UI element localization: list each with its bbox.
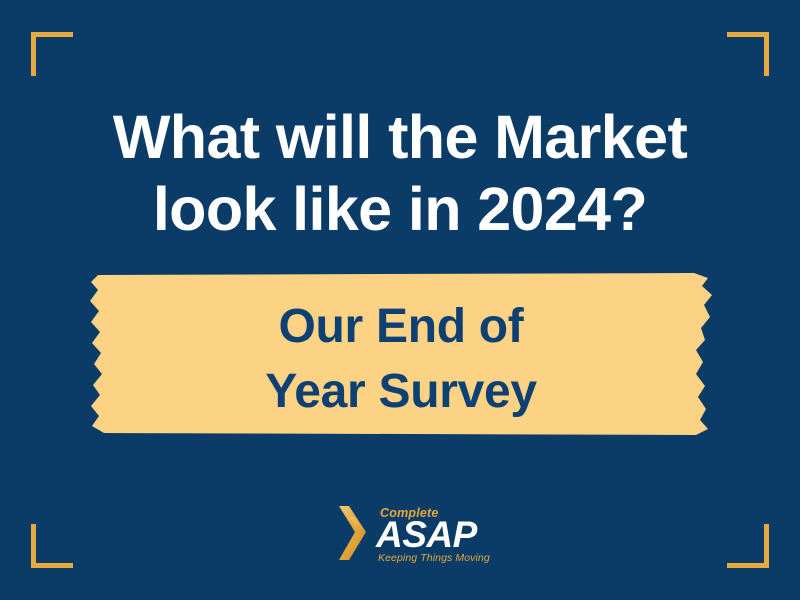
bracket-arm-horizontal	[31, 32, 73, 37]
logo-tagline: Keeping Things Moving	[378, 552, 490, 564]
corner-bracket-bottom-left	[31, 524, 73, 568]
headline-line-1: What will the Market	[0, 101, 800, 173]
page-title: What will the Market look like in 2024?	[0, 101, 800, 245]
logo: Complete ASAP Keeping Things Moving	[336, 503, 486, 563]
bracket-arm-vertical	[764, 32, 769, 76]
bracket-arm-vertical	[31, 32, 36, 76]
banner-line-1: Our End of	[84, 294, 718, 359]
bracket-arm-horizontal	[31, 563, 73, 568]
corner-bracket-top-right	[727, 32, 769, 76]
bracket-arm-vertical	[764, 524, 769, 568]
corner-bracket-top-left	[31, 32, 73, 76]
bracket-arm-horizontal	[727, 563, 769, 568]
headline-line-2: look like in 2024?	[0, 173, 800, 245]
bracket-arm-horizontal	[727, 32, 769, 37]
survey-banner: Our End of Year Survey	[84, 268, 718, 440]
bracket-arm-vertical	[31, 524, 36, 568]
promo-poster: What will the Market look like in 2024? …	[0, 0, 800, 600]
corner-bracket-bottom-right	[727, 524, 769, 568]
banner-line-2: Year Survey	[84, 359, 718, 424]
logo-brand-asap: ASAP	[376, 516, 477, 553]
chevron-arrow-icon	[336, 505, 376, 561]
banner-text: Our End of Year Survey	[84, 294, 718, 424]
